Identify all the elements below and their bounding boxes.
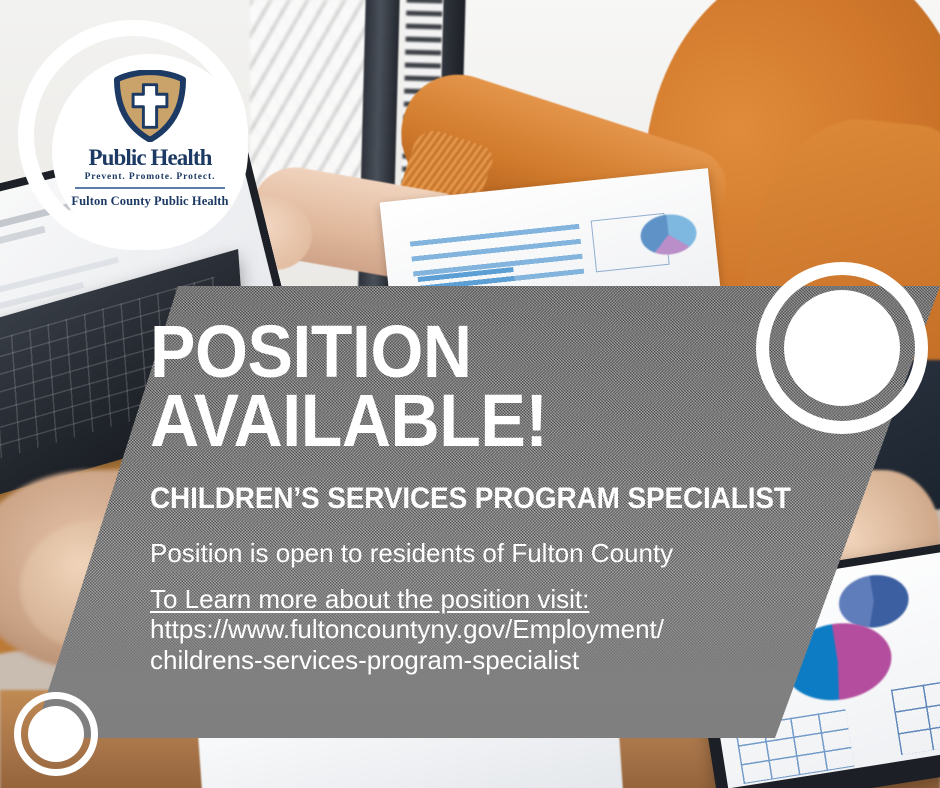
poster-canvas: POSITION AVAILABLE! CHILDREN’S SERVICES … — [0, 0, 940, 788]
position-title: CHILDREN’S SERVICES PROGRAM SPECIALIST — [150, 482, 801, 516]
photo-tablet-grid-b — [891, 675, 940, 755]
logo-badge: Public Health Prevent. Promote. Protect.… — [52, 54, 248, 250]
photo-laptop-ui-line — [0, 226, 46, 254]
eligibility-text: Position is open to residents of Fulton … — [150, 538, 850, 568]
link-lead-text: To Learn more about the position visit: — [150, 584, 589, 614]
logo-divider — [75, 187, 225, 189]
url-line-1[interactable]: https://www.fultoncountyny.gov/Employmen… — [150, 614, 850, 644]
url-line-2[interactable]: childrens-services-program-specialist — [150, 645, 850, 675]
logo-organization: Fulton County Public Health — [71, 194, 228, 209]
panel-copy: POSITION AVAILABLE! CHILDREN’S SERVICES … — [150, 318, 850, 675]
logo-title: Public Health — [88, 146, 211, 169]
decor-circle-bottom-left-disc — [28, 706, 84, 762]
logo-tagline: Prevent. Promote. Protect. — [85, 172, 216, 182]
headline: POSITION AVAILABLE! — [150, 318, 794, 456]
shield-cross-icon — [113, 70, 187, 142]
link-block: To Learn more about the position visit: … — [150, 584, 850, 675]
